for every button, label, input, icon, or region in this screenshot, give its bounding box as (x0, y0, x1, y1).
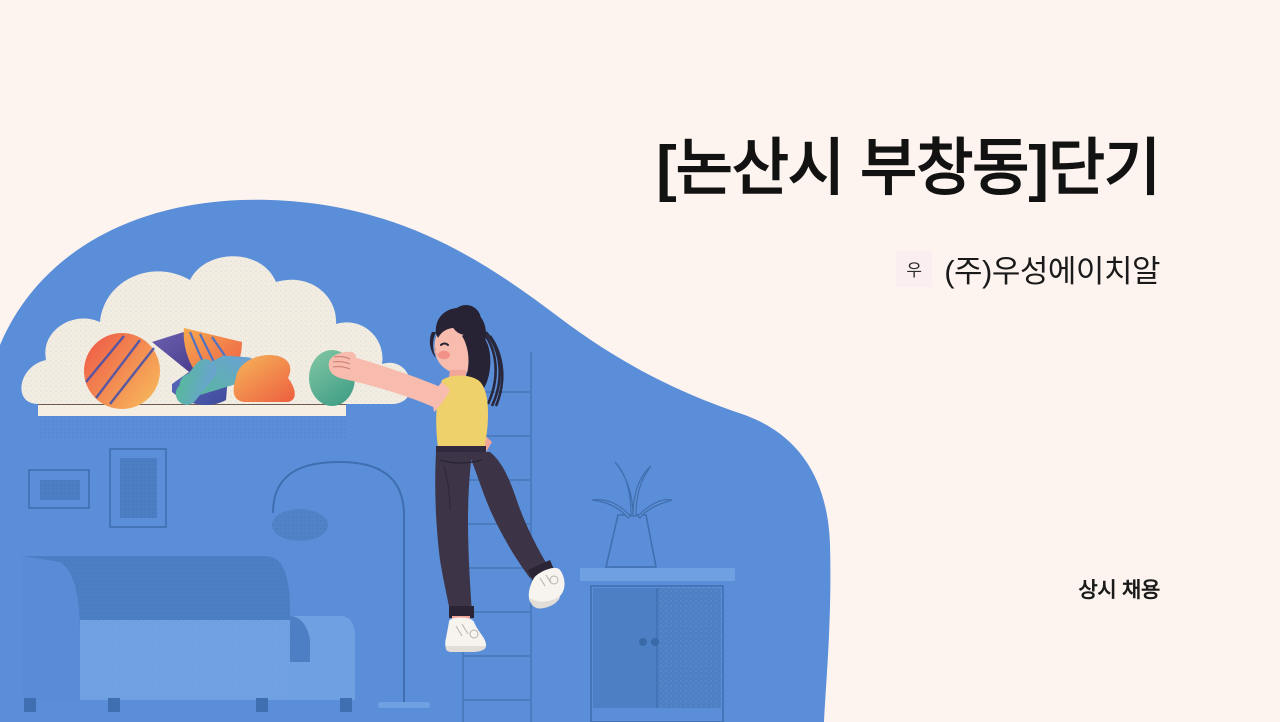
illustration-woman-on-ladder (0, 0, 850, 722)
job-title: [논산시 부창동]단기 (400, 134, 1160, 203)
hiring-status-badge: 상시 채용 (1078, 574, 1160, 604)
job-posting-card: [논산시 부창동]단기 우 (주)우성에이치알 상시 채용 (0, 0, 1280, 722)
company-row[interactable]: 우 (주)우성에이치알 (896, 246, 1160, 291)
company-logo-badge: 우 (896, 251, 932, 287)
company-name: (주)우성에이치알 (944, 246, 1160, 291)
striped-orange-circle (84, 333, 160, 409)
shelf (38, 402, 346, 416)
yellow-top (433, 376, 488, 449)
cabinet (580, 568, 735, 722)
